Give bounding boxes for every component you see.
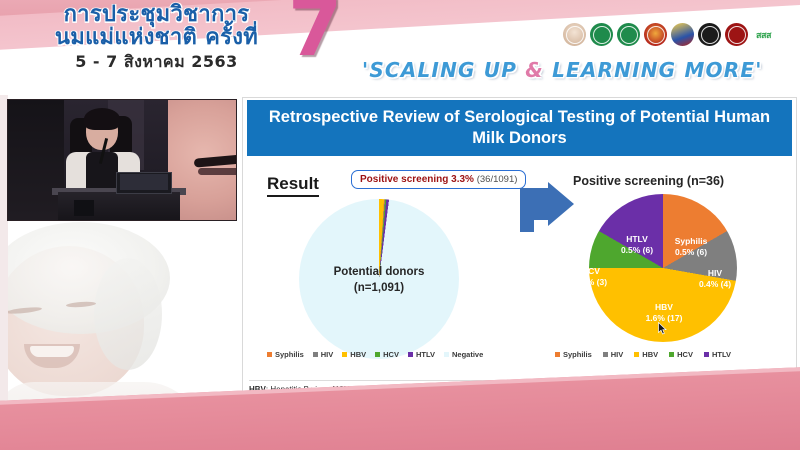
thai-title-line-1: การประชุมวิชาการ — [24, 4, 289, 26]
thaihealth-sss-logo: สสส — [752, 23, 775, 46]
legend-swatch-hiv — [313, 352, 318, 357]
conference-tagline: 'SCALING UP & LEARNING MORE' — [362, 58, 763, 82]
video-left-background — [8, 100, 64, 220]
mouse-cursor-icon — [658, 322, 667, 335]
royal-seal-logo — [563, 23, 586, 46]
red-royal-seal-logo — [725, 23, 748, 46]
legend2-swatch-hcv — [669, 352, 674, 357]
positive-screening-callout: Positive screening 3.3% (36/1091) — [351, 170, 526, 189]
slide-content: Retrospective Review of Serological Test… — [243, 98, 796, 404]
speaker-video-panel[interactable] — [8, 100, 236, 220]
legend-swatch-syphilis — [267, 352, 272, 357]
legend-item-hbv: HBV — [342, 350, 366, 359]
tagline-part-1: 'SCALING UP — [362, 58, 525, 82]
callout-fraction: (36/1091) — [477, 174, 518, 185]
slice-label-hcv-value: 0.3% (3) — [569, 277, 613, 288]
legend2-swatch-hiv — [603, 352, 608, 357]
legend2-label-hiv: HIV — [611, 350, 624, 359]
video-overlay-face-eye — [198, 168, 236, 175]
ministry-public-health-logo — [590, 23, 613, 46]
legend2-item-hcv: HCV — [669, 350, 693, 359]
legend-item-hiv: HIV — [313, 350, 334, 359]
conference-date: 5 - 7 สิงหาคม 2563 — [24, 54, 289, 70]
legend-item-syphilis: Syphilis — [267, 350, 304, 359]
legend2-label-syphilis: Syphilis — [563, 350, 592, 359]
slice-label-hiv: HIV 0.4% (4) — [691, 268, 739, 290]
slice-label-htlv-value: 0.5% (6) — [611, 245, 663, 256]
legend2-item-htlv: HTLV — [704, 350, 731, 359]
legend2-item-syphilis: Syphilis — [555, 350, 592, 359]
legend-item-htlv: HTLV — [408, 350, 435, 359]
tagline-part-2: LEARNING MORE' — [544, 58, 763, 82]
potential-donors-center-label: Potential donors (n=1,091) — [299, 265, 459, 296]
laptop-screen — [120, 174, 168, 190]
legend2-label-hcv: HCV — [677, 350, 693, 359]
legend-potential-donors: Syphilis HIV HBV HCV HTLV Negative — [267, 350, 507, 359]
slice-label-hiv-name: HIV — [691, 268, 739, 279]
legend-label-htlv: HTLV — [416, 350, 435, 359]
legend-label-hiv: HIV — [321, 350, 334, 359]
potential-donors-pie-chart: Potential donors (n=1,091) — [289, 193, 493, 363]
positive-screening-chart-title: Positive screening (n=36) — [573, 174, 724, 188]
legend-swatch-hcv — [375, 352, 380, 357]
child-teeth — [30, 346, 74, 357]
speaker-hair-top — [84, 108, 120, 130]
slice-label-htlv: HTLV 0.5% (6) — [611, 234, 663, 256]
legend-swatch-htlv — [408, 352, 413, 357]
black-circle-institute-logo — [698, 23, 721, 46]
presentation-screen: การประชุมวิชาการ นมแม่แห่งชาติ ครั้งที่ … — [0, 0, 800, 450]
edition-number: 7 — [288, 0, 342, 68]
royal-crest-logo — [671, 23, 694, 46]
slice-label-htlv-name: HTLV — [611, 234, 663, 245]
conference-thai-title: การประชุมวิชาการ นมแม่แห่งชาติ ครั้งที่ … — [24, 4, 289, 70]
slice-label-syphilis-name: Syphilis — [663, 236, 719, 247]
legend-label-syphilis: Syphilis — [275, 350, 304, 359]
slice-label-hcv-name: HCV — [569, 266, 613, 277]
callout-percentage: Positive screening 3.3% — [360, 174, 474, 185]
legend2-swatch-hbv — [634, 352, 639, 357]
slice-label-syphilis-value: 0.5% (6) — [663, 247, 719, 258]
slice-label-hiv-value: 0.4% (4) — [691, 279, 739, 290]
slice-label-hbv: HBV 1.6% (17) — [637, 302, 691, 324]
potential-donors-label-line2: (n=1,091) — [299, 281, 459, 297]
legend2-item-hiv: HIV — [603, 350, 624, 359]
legend-item-negative: Negative — [444, 350, 483, 359]
slice-label-hbv-name: HBV — [637, 302, 691, 313]
slide-title: Retrospective Review of Serological Test… — [247, 100, 792, 156]
legend-label-negative: Negative — [452, 350, 483, 359]
legend-item-hcv: HCV — [375, 350, 399, 359]
legend2-label-hbv: HBV — [642, 350, 658, 359]
thai-emblem-logo — [644, 23, 667, 46]
legend-swatch-negative — [444, 352, 449, 357]
podium-plate — [74, 200, 94, 216]
department-health-logo — [617, 23, 640, 46]
sponsor-logo-row: สสส — [563, 23, 775, 46]
legend-label-hbv: HBV — [350, 350, 366, 359]
legend2-swatch-syphilis — [555, 352, 560, 357]
legend-swatch-hbv — [342, 352, 347, 357]
positive-screening-pie-chart: HTLV 0.5% (6) Syphilis 0.5% (6) HIV 0.4%… — [563, 190, 783, 350]
tagline-ampersand: & — [525, 58, 544, 82]
legend2-label-htlv: HTLV — [712, 350, 731, 359]
background-child-photo — [0, 212, 244, 422]
slice-label-syphilis: Syphilis 0.5% (6) — [663, 236, 719, 258]
legend2-item-hbv: HBV — [634, 350, 658, 359]
legend-label-hcv: HCV — [383, 350, 399, 359]
sss-logo-text: สสส — [756, 28, 771, 42]
potential-donors-label-line1: Potential donors — [299, 265, 459, 281]
slice-label-hcv: HCV 0.3% (3) — [569, 266, 613, 288]
legend-positive-screening: Syphilis HIV HBV HCV HTLV — [555, 350, 780, 359]
thai-title-line-2: นมแม่แห่งชาติ ครั้งที่ — [24, 27, 289, 49]
child-hat-brim — [94, 258, 162, 370]
left-edge-strip — [0, 95, 8, 405]
legend2-swatch-htlv — [704, 352, 709, 357]
conference-header-banner: การประชุมวิชาการ นมแม่แห่งชาติ ครั้งที่ … — [0, 0, 800, 95]
